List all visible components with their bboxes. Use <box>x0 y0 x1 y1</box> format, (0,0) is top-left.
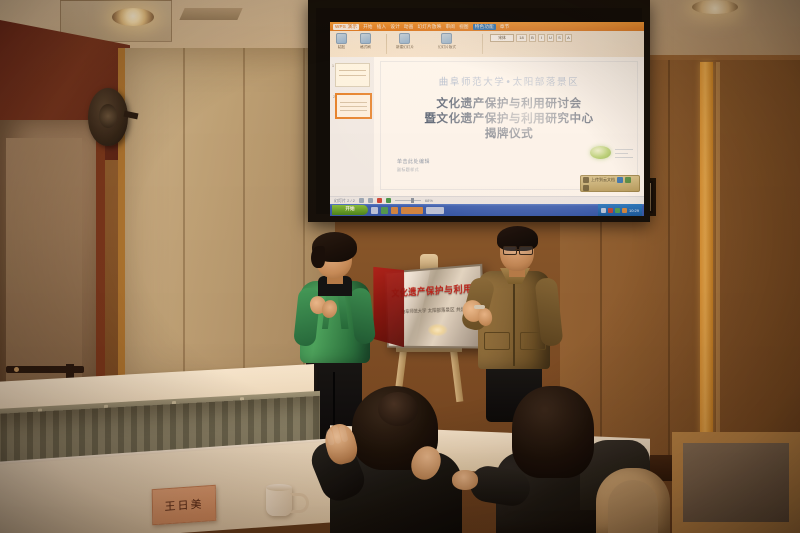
gold-accent-strip <box>700 62 713 452</box>
speaker-cone <box>99 104 117 128</box>
red-covering-cloth <box>370 265 408 349</box>
ribbon-tab-strip[interactable]: WPS 演示 开始 插入 设计 动画 幻灯片放映 审阅 视图 特色功能 章节 <box>330 22 644 31</box>
ribbon-group-new-slide[interactable]: 新建幻灯片 <box>396 33 414 50</box>
mug-rim <box>266 484 292 491</box>
status-bar[interactable]: 幻灯片 2 / 2 68% <box>330 196 644 204</box>
ribbon-tab-animation[interactable]: 动画 <box>404 24 414 30</box>
ribbon-body[interactable]: 粘贴 格式刷 新建幻灯片 幻灯片版式 宋体 18 <box>330 31 644 58</box>
slide-indicator: 幻灯片 2 / 2 <box>334 198 355 204</box>
audience-member-2-hair <box>512 386 594 478</box>
slideshow-icon[interactable] <box>386 198 391 203</box>
downlight-icon <box>112 8 154 26</box>
new-slide-icon <box>399 33 410 44</box>
ribbon-tab-slideshow[interactable]: 幻灯片放映 <box>418 24 442 30</box>
zoom-slider[interactable] <box>395 200 421 201</box>
name-card: 王日美 <box>152 485 217 525</box>
projected-presentation[interactable]: WPS 演示 开始 插入 设计 动画 幻灯片放映 审阅 视图 特色功能 章节 粘… <box>330 22 644 216</box>
conference-room-photo: WPS 演示 开始 插入 设计 动画 幻灯片放映 审阅 视图 特色功能 章节 粘… <box>0 0 800 533</box>
strikethrough-button[interactable]: S <box>556 34 563 42</box>
font-controls[interactable]: 宋体 18 B I U S A <box>490 34 572 42</box>
cloud-float-toolbar[interactable]: 上传到云文档 <box>580 175 640 192</box>
taskbar-window-presentation[interactable] <box>401 207 423 214</box>
cloud-upload-label: 上传到云文档 <box>591 177 615 183</box>
ribbon-tab-section[interactable]: 章节 <box>500 24 510 30</box>
wood-framed-panel <box>672 432 800 533</box>
chair-cushion <box>608 480 658 533</box>
media-icon[interactable] <box>391 207 398 214</box>
start-button[interactable]: 开始 <box>332 205 368 215</box>
share-icon[interactable] <box>583 185 589 191</box>
bold-button[interactable]: B <box>529 34 536 42</box>
ribbon-tab-view[interactable]: 视图 <box>459 24 469 30</box>
cloud-icon[interactable] <box>583 177 589 183</box>
plaque-light-reflection <box>428 324 448 336</box>
slide-number: 2 <box>333 95 335 99</box>
ribbon-tab-file[interactable]: WPS 演示 <box>333 24 359 30</box>
slide-thumbnail[interactable]: 1 <box>335 63 370 87</box>
ribbon-tab-home[interactable]: 开始 <box>363 24 373 30</box>
glasses-icon <box>519 246 533 255</box>
new-slide-label: 新建幻灯片 <box>396 45 414 50</box>
slide-caption: 单击此处编辑 <box>397 158 430 165</box>
ribbon-group-format-painter[interactable]: 格式刷 <box>360 33 371 50</box>
font-name-input[interactable]: 宋体 <box>490 34 514 42</box>
projection-screen-frame: WPS 演示 开始 插入 设计 动画 幻灯片放映 审阅 视图 特色功能 章节 粘… <box>308 0 650 222</box>
glasses-bridge <box>515 249 520 250</box>
search-icon[interactable] <box>617 177 623 183</box>
audience-member-2-hand <box>452 470 478 490</box>
slide-layout-icon <box>441 33 452 44</box>
active-slide[interactable]: 曲阜师范大学•太阳部落景区 文化遗产保护与利用研讨会 暨文化遗产保护与利用研究中… <box>380 61 638 190</box>
taskbar-window-document[interactable] <box>426 207 444 214</box>
paste-label: 粘贴 <box>338 45 345 50</box>
ceiling-fixture <box>179 8 242 20</box>
zoom-level: 68% <box>425 198 433 203</box>
slide-number: 1 <box>332 64 334 68</box>
presenter-right-zipper <box>513 282 515 366</box>
paste-icon <box>336 33 347 44</box>
italic-button[interactable]: I <box>538 34 545 42</box>
font-color-button[interactable]: A <box>565 34 572 42</box>
browser-icon[interactable] <box>371 207 378 214</box>
ribbon-tab-review[interactable]: 审阅 <box>446 24 456 30</box>
slide-header-text: 曲阜师范大学•太阳部落景区 <box>381 74 637 88</box>
slide-sorter-icon[interactable] <box>368 198 373 203</box>
slide-line-1: 文化遗产保护与利用研讨会 <box>381 96 637 111</box>
ribbon-tab-insert[interactable]: 插入 <box>377 24 387 30</box>
mug-handle <box>290 493 309 513</box>
presenter-left-hair-side <box>311 246 325 268</box>
glasses-icon <box>503 246 517 255</box>
alcove-interior <box>6 138 82 388</box>
reading-view-icon[interactable] <box>377 198 382 203</box>
underline-button[interactable]: U <box>547 34 554 42</box>
slide-title-block: 文化遗产保护与利用研讨会 暨文化遗产保护与利用研究中心 揭牌仪式 <box>381 96 637 141</box>
slide-thumbnail-pane[interactable]: 1 2 <box>330 57 375 204</box>
ribbon-tab-design[interactable]: 设计 <box>390 24 400 30</box>
system-tray[interactable]: 10:29 <box>598 204 642 216</box>
slide-subcaption: 副标题样式 <box>397 167 419 173</box>
format-painter-label: 格式刷 <box>360 45 371 50</box>
tray-clock: 10:29 <box>629 208 639 213</box>
ribbon-tab-features[interactable]: 特色功能 <box>473 24 496 30</box>
folder-icon[interactable] <box>381 207 388 214</box>
normal-view-icon[interactable] <box>359 198 364 203</box>
font-size-input[interactable]: 18 <box>516 34 527 42</box>
downlight-icon <box>692 0 738 14</box>
comment-icon[interactable] <box>625 177 631 183</box>
ribbon-group-paste[interactable]: 粘贴 <box>336 33 347 50</box>
format-painter-icon <box>360 33 371 44</box>
presenter-right-pocket <box>484 332 510 350</box>
wristwatch-icon <box>474 305 485 309</box>
name-card-text: 王日美 <box>153 495 215 515</box>
logo-text-lines <box>615 149 633 161</box>
windows-taskbar[interactable]: 开始 10:29 <box>330 204 644 216</box>
gold-accent-strip-inner <box>716 62 720 452</box>
slide-line-3: 揭牌仪式 <box>381 126 637 141</box>
green-oval-logo-icon <box>590 146 611 159</box>
slide-layout-label: 幻灯片版式 <box>438 45 456 50</box>
slide-line-2: 暨文化遗产保护与利用研究中心 <box>381 111 637 126</box>
slide-thumbnail-selected[interactable]: 2 <box>335 93 372 119</box>
ribbon-group-layout[interactable]: 幻灯片版式 <box>438 33 456 50</box>
audience-member-1-hair-bun <box>378 392 418 426</box>
